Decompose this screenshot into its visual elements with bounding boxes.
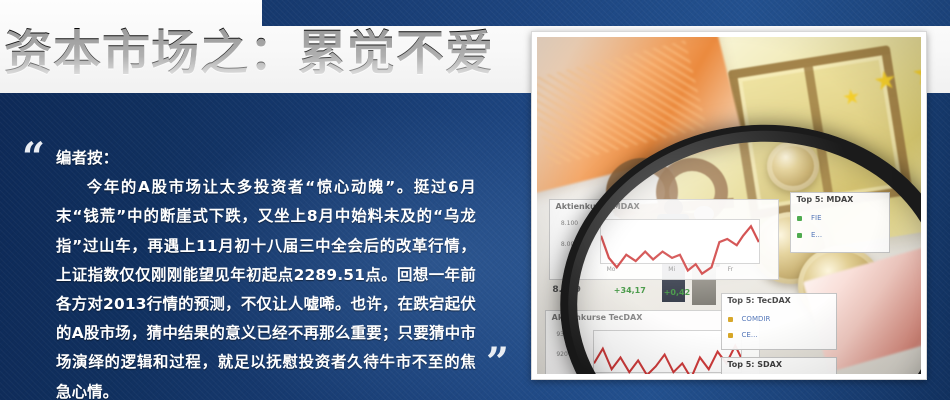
quote-open-icon: “ bbox=[22, 138, 43, 178]
editorial-body-text: 今年的A股市场让太多投资者“惊心动魄”。挺过6月末“钱荒”中的断崖式下跌，又坐上… bbox=[56, 173, 476, 400]
hero-photo: Aktienkurse MDAX 8.100 8.000 Mo Mi Fr 8.… bbox=[537, 37, 921, 374]
editorial-lead-label: 编者按： bbox=[56, 144, 476, 173]
blue-banner-top bbox=[262, 0, 950, 26]
chart-y-tick: 920 bbox=[556, 351, 567, 358]
page-canvas: 资本市场之：累觉不爱 “ ” 编者按： 今年的A股市场让太多投资者“惊心动魄”。… bbox=[0, 0, 950, 400]
chart-y-tick: 8.100 bbox=[561, 220, 578, 227]
weave-texture bbox=[262, 0, 950, 26]
editorial-copy: 编者按： 今年的A股市场让太多投资者“惊心动魄”。挺过6月末“钱荒”中的断崖式下… bbox=[56, 144, 476, 400]
quote-close-icon: ” bbox=[486, 343, 507, 383]
page-title: 资本市场之：累觉不爱 bbox=[4, 22, 494, 84]
hero-photo-frame: Aktienkurse MDAX 8.100 8.000 Mo Mi Fr 8.… bbox=[531, 31, 927, 380]
